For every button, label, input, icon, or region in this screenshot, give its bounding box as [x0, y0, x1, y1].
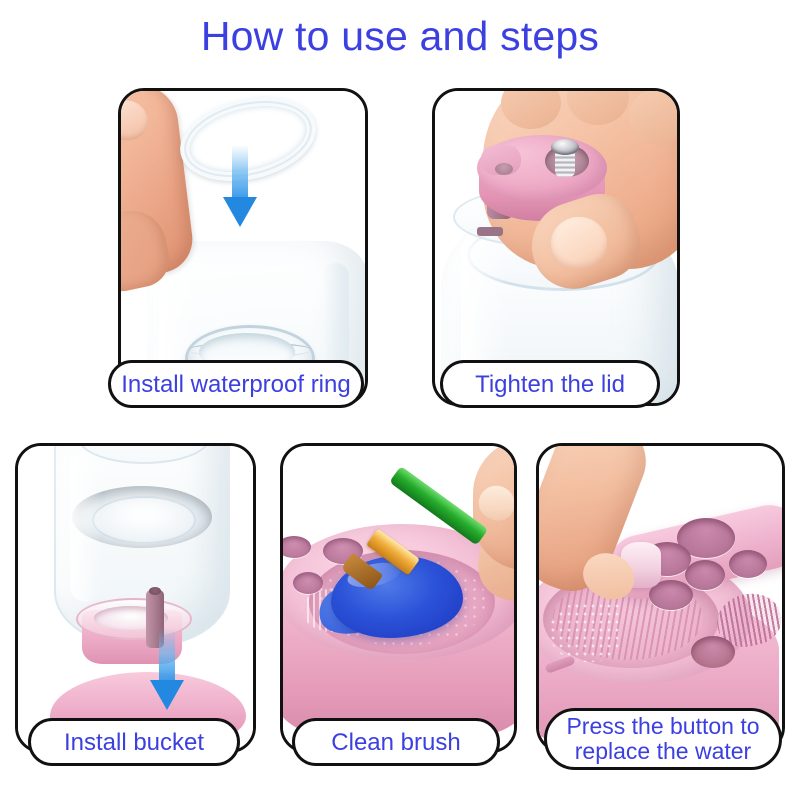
step-3-illustration — [18, 446, 253, 750]
metal-screw — [551, 139, 579, 177]
infographic-page: How to use and steps Install waterproof … — [0, 0, 800, 800]
brush-hole — [729, 550, 767, 578]
step-panel-3 — [15, 443, 256, 753]
knuckle — [501, 91, 561, 129]
bucket-highlight — [70, 452, 102, 602]
thumbnail — [550, 216, 608, 270]
step-panel-1 — [118, 88, 368, 406]
lid-tab — [481, 145, 521, 175]
step-4-caption: Clean brush — [292, 718, 500, 766]
brush-hole — [283, 536, 311, 558]
step-panel-4 — [280, 443, 517, 753]
step-panel-5 — [536, 443, 785, 753]
step-1-caption: Install waterproof ring — [108, 360, 364, 408]
fingernail — [121, 98, 150, 143]
step-3-caption: Install bucket — [28, 718, 240, 766]
screw-head — [551, 139, 579, 155]
bucket-inner-disc-inner — [92, 496, 196, 544]
step-2-illustration — [435, 91, 677, 403]
brush-hole — [685, 560, 725, 590]
brush-hole — [293, 572, 323, 594]
step-2-caption: Tighten the lid — [440, 360, 660, 408]
waterproof-ring — [172, 91, 324, 193]
step-panel-2 — [432, 88, 680, 406]
knuckle — [567, 91, 629, 125]
step-5-caption: Press the button to replace the water — [544, 708, 782, 770]
knuckle — [629, 91, 677, 145]
step-4-illustration — [283, 446, 514, 750]
step-5-caption-line-2: replace the water — [575, 738, 751, 764]
page-title: How to use and steps — [0, 12, 800, 60]
lid-tab-hole — [495, 163, 513, 175]
step-5-caption-line-1: Press the button to — [566, 713, 759, 739]
step-1-illustration — [121, 91, 365, 403]
step-5-illustration — [539, 446, 782, 750]
